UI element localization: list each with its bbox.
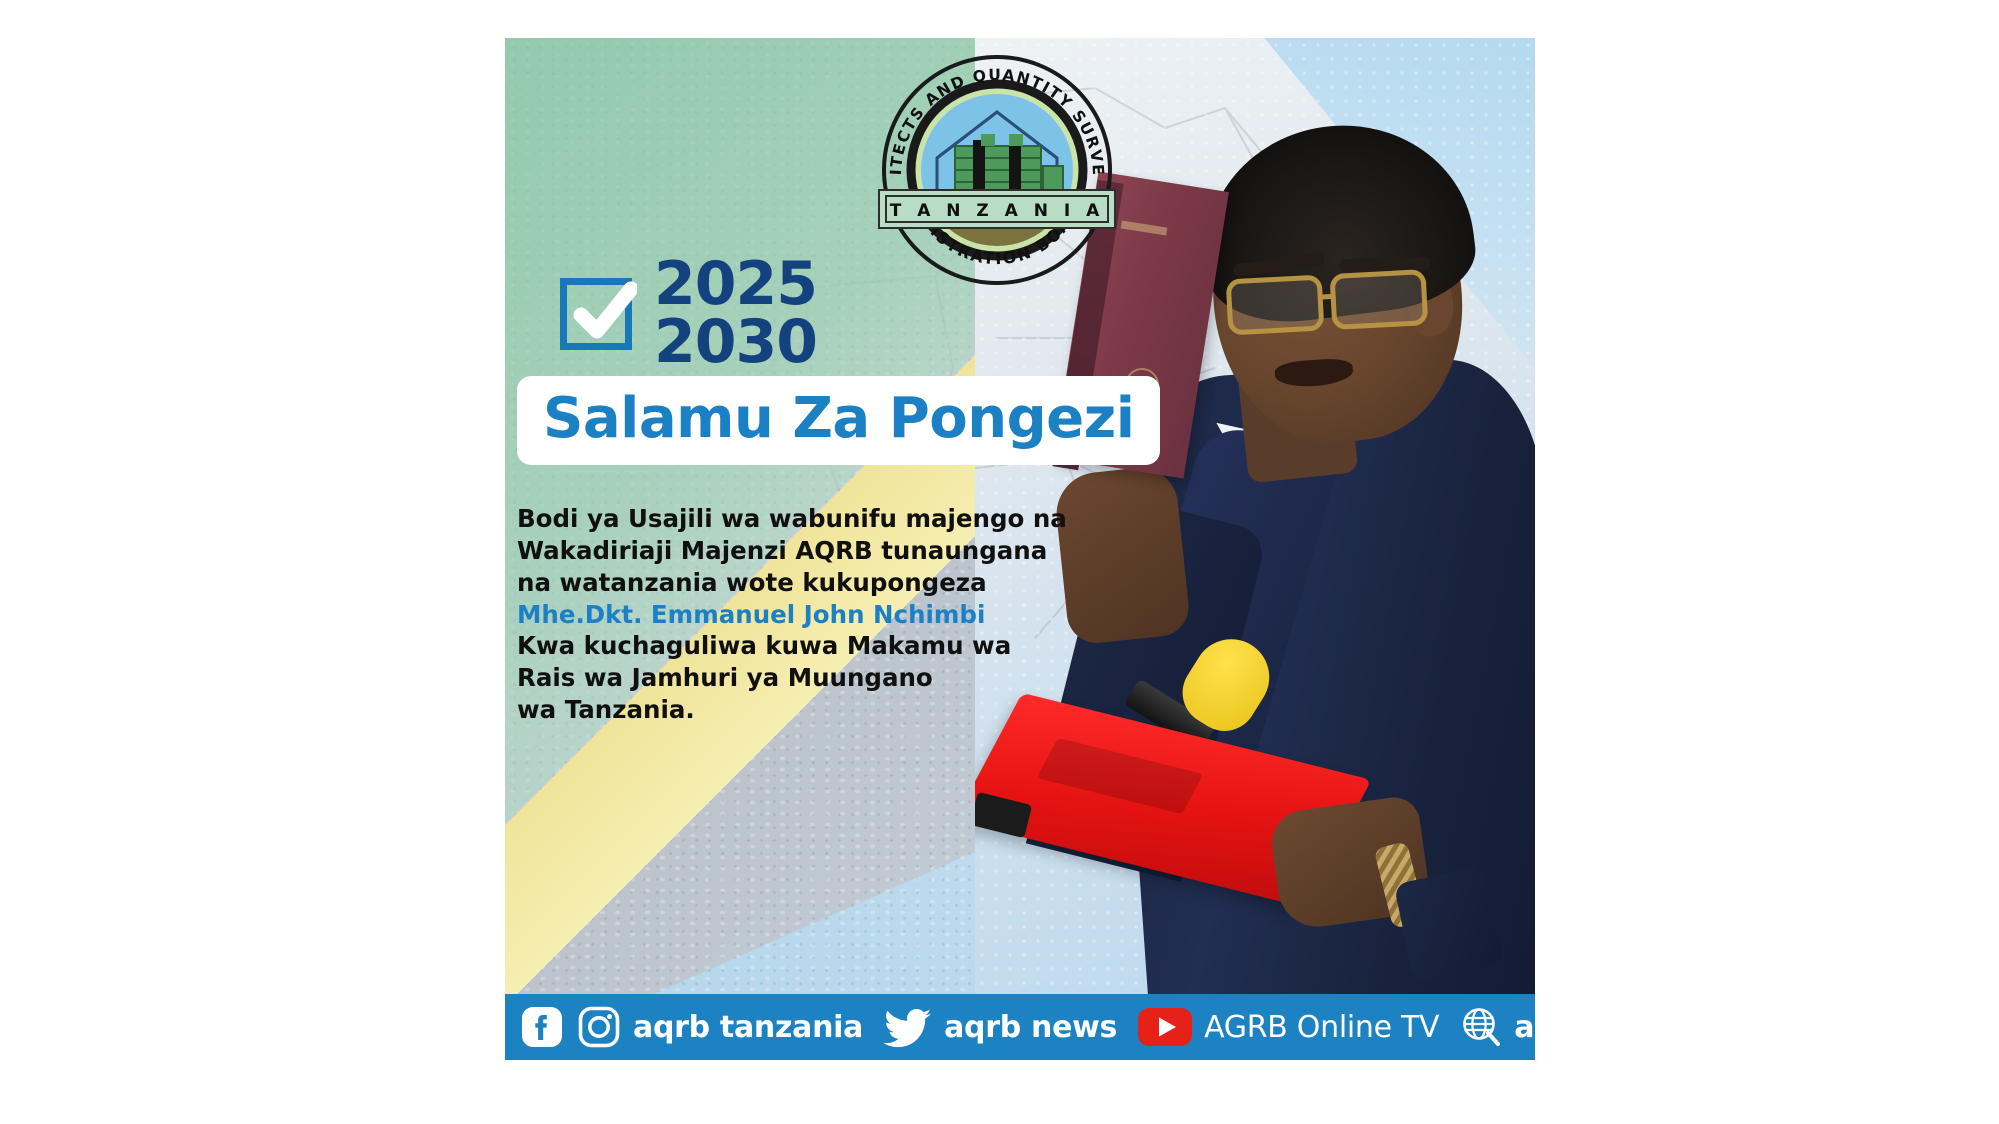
- facebook-link[interactable]: [519, 1004, 565, 1050]
- logo-tanzania-band: T A N Z A N I A: [879, 190, 1115, 228]
- checkbox-icon: [560, 278, 632, 350]
- youtube-link[interactable]: [1137, 1007, 1193, 1047]
- aqrb-logo: ARCHITECTS AND QUANTITY SURVEYORS REGIST…: [877, 50, 1117, 290]
- body-line-6: wa Tanzania.: [517, 694, 1037, 726]
- term-years: 2025 2030: [654, 256, 817, 371]
- eyeglasses: [1226, 269, 1439, 338]
- glasses-bridge: [1320, 294, 1336, 300]
- screenshot-canvas: ARCHITECTS AND QUANTITY SURVEYORS REGIST…: [0, 0, 1999, 1124]
- poster-title: Salamu Za Pongezi: [543, 386, 1134, 451]
- globe-search-icon[interactable]: [1459, 1005, 1503, 1049]
- instagram-link[interactable]: [576, 1004, 622, 1050]
- instagram-icon[interactable]: [576, 1004, 622, 1050]
- checkmark-icon: [573, 281, 637, 345]
- twitter-link[interactable]: [883, 1005, 933, 1049]
- social-footer-bar: aqrb tanzania aqrb news AGRB Online TV: [505, 994, 1535, 1060]
- term-year-from: 2025: [654, 256, 817, 314]
- body-line-2: Wakadiriaji Majenzi AQRB tunaungana: [517, 535, 1037, 567]
- aqrb-logo-svg: ARCHITECTS AND QUANTITY SURVEYORS REGIST…: [877, 50, 1117, 290]
- raised-hand: [1052, 464, 1191, 646]
- website-link[interactable]: [1459, 1005, 1503, 1049]
- congratulations-poster: ARCHITECTS AND QUANTITY SURVEYORS REGIST…: [505, 38, 1535, 1060]
- lens-left: [1226, 275, 1325, 336]
- poster-body-text: Bodi ya Usajili wa wabunifu majengo na W…: [517, 503, 1037, 726]
- youtube-icon[interactable]: [1137, 1007, 1193, 1047]
- body-line-1: Bodi ya Usajili wa wabunifu majengo na: [517, 503, 1037, 535]
- lens-right: [1329, 269, 1428, 330]
- youtube-channel-label[interactable]: AGRB Online TV: [1204, 1010, 1439, 1045]
- body-line-3: na watanzania wote kukupongeza: [517, 567, 1037, 599]
- body-line-5: Rais wa Jamhuri ya Muungano: [517, 662, 1037, 694]
- twitter-icon[interactable]: [883, 1005, 933, 1049]
- body-line-4: Kwa kuchaguliwa kuwa Makamu wa: [517, 630, 1037, 662]
- title-banner: Salamu Za Pongezi: [517, 376, 1160, 465]
- term-years-block: 2025 2030: [560, 256, 817, 371]
- term-year-to: 2030: [654, 314, 817, 372]
- website-url[interactable]: aqrb.go.tz: [1514, 1010, 1535, 1045]
- facebook-instagram-handle[interactable]: aqrb tanzania: [633, 1010, 863, 1045]
- logo-band-label: T A N Z A N I A: [890, 201, 1105, 221]
- honoree-name: Mhe.Dkt. Emmanuel John Nchimbi: [517, 599, 1037, 631]
- twitter-handle[interactable]: aqrb news: [944, 1010, 1117, 1045]
- facebook-icon[interactable]: [519, 1004, 565, 1050]
